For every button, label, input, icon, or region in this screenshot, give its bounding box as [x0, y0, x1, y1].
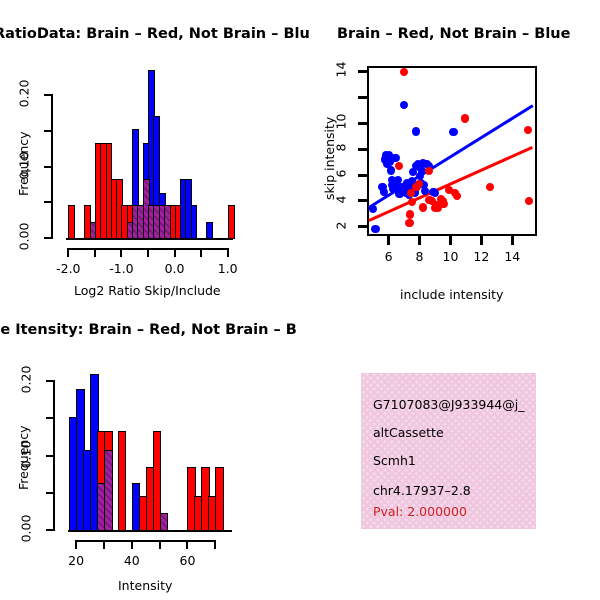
hist-bar [118, 431, 127, 531]
x-tick-intensity [186, 540, 188, 549]
x-tick-ratio [200, 248, 202, 257]
hist-bar [164, 205, 171, 239]
hist-bar [104, 450, 113, 531]
x-tick-label-ratio: 0.0 [153, 261, 197, 276]
x-tick-label-scatter: 14 [494, 249, 530, 264]
y-tick-label-ratio: 0.10 [17, 148, 32, 182]
hist-bar [215, 467, 224, 531]
panel-title-ratio: RatioData: Brain – Red, Not Brain – Blu [0, 26, 310, 42]
scatter-point [415, 180, 423, 188]
scatter-point [439, 200, 447, 208]
scatter-point [395, 162, 403, 170]
y-tick-ratio [44, 237, 53, 239]
scatter-point [391, 154, 399, 162]
scatter-point [524, 126, 532, 134]
x-tick-label-intensity: 40 [112, 553, 152, 568]
scatter-data-layer [368, 67, 536, 235]
x-tick-label-ratio: -2.0 [46, 261, 90, 276]
scatter-point [461, 114, 469, 122]
y-tick-intensity [46, 455, 55, 457]
scatter-point [453, 192, 461, 200]
x-tick-intensity [103, 540, 105, 549]
scatter-point [486, 183, 494, 191]
y-tick-label-scatter: 2 [334, 211, 349, 239]
hist-bar [68, 205, 75, 239]
x-tick-ratio [67, 248, 69, 257]
x-tick-ratio [147, 248, 149, 257]
x-axis-label-scatter: include intensity [400, 287, 503, 302]
scatter-point [449, 128, 457, 136]
y-tick-ratio [44, 94, 53, 96]
info-box: G7107083@J933944@j_altCassetteScmh1chr4.… [361, 373, 536, 529]
hist-bar [206, 222, 213, 239]
y-tick-ratio [44, 166, 53, 168]
y-tick-ratio [44, 130, 53, 132]
y-tick-scatter [358, 122, 367, 125]
panel-title-scatter: Brain – Red, Not Brain – Blue [337, 26, 570, 42]
y-tick-label-ratio: 0.20 [17, 77, 32, 111]
y-tick-intensity [46, 529, 55, 531]
plot-canvas: RatioData: Brain – Red, Not Brain – BluL… [0, 0, 600, 600]
panel-title-intensity: ne Itensity: Brain – Red, Not Brain – B [0, 322, 297, 338]
x-tick-scatter [387, 236, 390, 245]
hist-bar [90, 222, 97, 239]
scatter-point [369, 205, 377, 213]
hist-baseline-ratio [66, 238, 233, 240]
y-tick-scatter [358, 174, 367, 177]
x-tick-label-intensity: 60 [167, 553, 207, 568]
x-tick-label-intensity: 20 [56, 553, 96, 568]
y-tick-label-intensity: 0.00 [19, 512, 34, 546]
scatter-point [406, 210, 414, 218]
scatter-point [412, 127, 420, 135]
y-tick-scatter [358, 199, 367, 202]
y-tick-intensity [46, 380, 55, 382]
y-tick-label-intensity: 0.20 [19, 363, 34, 397]
y-tick-label-ratio: 0.00 [17, 220, 32, 254]
scatter-point [419, 203, 427, 211]
scatter-point [380, 188, 388, 196]
scatter-point [408, 198, 416, 206]
x-tick-intensity [214, 540, 216, 549]
scatter-point [525, 197, 533, 205]
hist-bar [191, 205, 198, 239]
scatter-point [400, 68, 408, 76]
pval-text: Pval: 2.000000 [373, 504, 467, 519]
info-line: altCassette [373, 425, 444, 440]
y-tick-intensity [46, 492, 55, 494]
x-tick-ratio [227, 248, 229, 257]
info-line: Scmh1 [373, 453, 416, 468]
x-axis-label-intensity: Intensity [118, 578, 172, 593]
x-tick-scatter [449, 236, 452, 245]
x-tick-intensity [159, 540, 161, 549]
y-tick-label-scatter: 14 [334, 56, 349, 84]
x-tick-scatter [511, 236, 514, 245]
scatter-point [405, 219, 413, 227]
scatter-point [371, 225, 379, 233]
y-tick-scatter [358, 225, 367, 228]
hist-bar [160, 513, 169, 531]
x-tick-scatter [480, 236, 483, 245]
scatter-point [387, 166, 395, 174]
info-line: G7107083@J933944@j_ [373, 397, 524, 412]
y-tick-label-scatter: 10 [334, 108, 349, 136]
y-tick-label-scatter: 8 [334, 134, 349, 162]
x-tick-ratio [174, 248, 176, 257]
y-tick-ratio [44, 201, 53, 203]
y-tick-scatter [358, 70, 367, 73]
x-axis-label-ratio: Log2 Ratio Skip/Include [74, 283, 221, 298]
y-tick-scatter [358, 148, 367, 151]
x-tick-ratio [94, 248, 96, 257]
x-tick-intensity [75, 540, 77, 549]
y-tick-label-scatter: 4 [334, 185, 349, 213]
x-tick-intensity [131, 540, 133, 549]
hist-bar [228, 205, 235, 239]
x-tick-scatter [418, 236, 421, 245]
x-tick-label-ratio: -1.0 [99, 261, 143, 276]
info-line: chr4.17937–2.8 [373, 483, 471, 498]
x-tick-label-ratio: 1.0 [206, 261, 250, 276]
hist-baseline-intensity [68, 530, 232, 532]
scatter-point [400, 101, 408, 109]
x-tick-ratio [120, 248, 122, 257]
y-tick-intensity [46, 417, 55, 419]
scatter-point [425, 167, 433, 175]
y-tick-scatter [358, 96, 367, 99]
y-tick-label-intensity: 0.10 [19, 437, 34, 471]
x-axis-line-intensity [76, 540, 215, 542]
y-tick-label-scatter: 6 [334, 160, 349, 188]
